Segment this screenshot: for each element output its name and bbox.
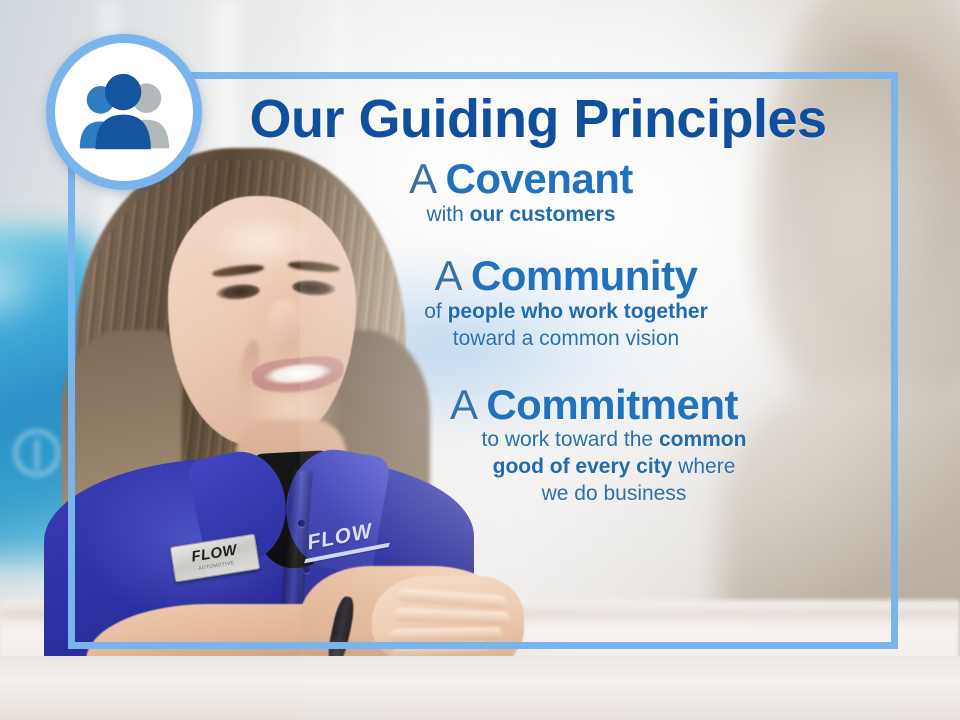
principle-detail: with our customers xyxy=(200,202,842,229)
principle-heading: A Commitment xyxy=(312,383,876,428)
principle-commitment: A Commitment to work toward the commongo… xyxy=(200,383,876,508)
principle-article: A xyxy=(409,155,434,202)
principle-detail-line: we do business xyxy=(352,481,876,508)
shirt-button xyxy=(303,566,310,573)
shirt-button xyxy=(298,520,305,527)
principle-detail: of people who work togethertoward a comm… xyxy=(256,299,876,353)
guiding-principles-graphic: FLOW FLOW AUTOMOTIVE xyxy=(0,0,960,720)
principle-detail-line: good of every city where xyxy=(352,454,876,481)
principle-keyword: Covenant xyxy=(446,155,633,202)
people-group-badge xyxy=(46,34,202,190)
finger xyxy=(390,627,502,642)
principle-detail-line: to work toward the common xyxy=(352,427,876,454)
principle-keyword: Community xyxy=(471,252,698,299)
principle-article: A xyxy=(450,381,475,428)
principle-keyword: Commitment xyxy=(486,381,738,428)
principle-heading: A Covenant xyxy=(200,157,842,202)
principle-detail-line: with our customers xyxy=(200,202,842,229)
principle-detail-line: toward a common vision xyxy=(256,326,876,353)
desk-front xyxy=(0,656,960,720)
principle-article: A xyxy=(435,252,460,299)
principle-detail: to work toward the commongood of every c… xyxy=(312,427,876,508)
principle-heading: A Community xyxy=(256,254,876,299)
page-title: Our Guiding Principles xyxy=(200,92,876,147)
principle-community: A Community of people who work togethert… xyxy=(200,254,876,352)
principle-covenant: A Covenant with our customers xyxy=(200,157,876,228)
people-group-icon xyxy=(72,60,176,164)
principles-text-block: Our Guiding Principles A Covenant with o… xyxy=(200,92,876,508)
principle-detail-line: of people who work together xyxy=(256,299,876,326)
